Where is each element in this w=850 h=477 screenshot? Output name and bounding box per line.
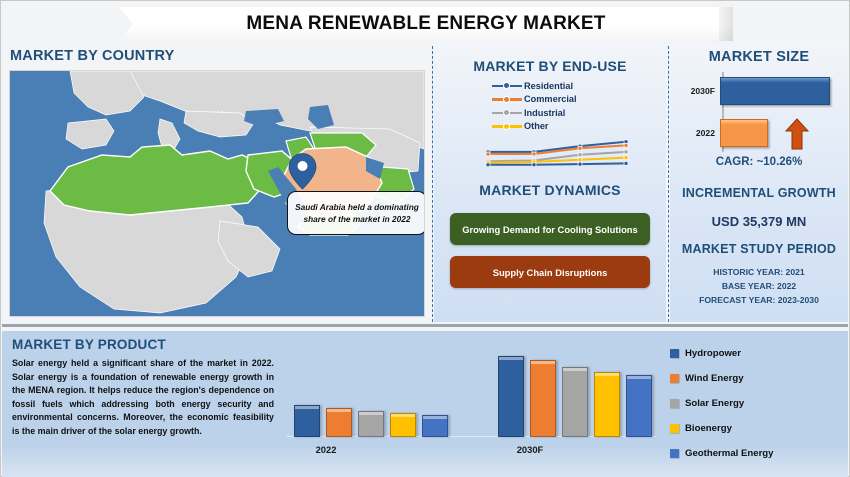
legend-label: Industrial [524, 108, 565, 118]
market-by-product-title: MARKET BY PRODUCT [12, 337, 166, 352]
legend-marker-line-icon [492, 108, 522, 118]
legend-label: Geothermal Energy [685, 448, 774, 459]
market-size-chart: 2030F 2022 [676, 72, 842, 152]
panel-divider-left [432, 46, 433, 322]
bar-solar-energy-2030F [562, 367, 588, 437]
legend-item-industrial: Industrial [492, 106, 577, 120]
bar-hydropower-2022 [294, 405, 320, 437]
legend-label: Bioenergy [685, 423, 732, 434]
legend-label: Residential [524, 81, 573, 91]
market-study-period-lines: HISTORIC YEAR: 2021 BASE YEAR: 2022 FORE… [670, 266, 848, 308]
bar-2022 [720, 119, 768, 147]
legend-item-geothermal-energy: Geothermal Energy [670, 441, 845, 466]
legend-swatch-icon [670, 349, 679, 358]
page-title: MENA RENEWABLE ENERGY MARKET [246, 13, 605, 35]
infographic-poster: MENA RENEWABLE ENERGY MARKET MARKET BY C… [0, 0, 850, 477]
legend-swatch-icon [670, 374, 679, 383]
incremental-growth-value: USD 35,379 MN [670, 214, 848, 229]
cagr-label: CAGR: ~10.26% [670, 156, 848, 168]
base-year-line: BASE YEAR: 2022 [670, 280, 848, 294]
bar-label-2030: 2030F [676, 86, 720, 96]
enduse-legend: Residential Commercial Industrial Other [492, 79, 577, 133]
market-study-period-title: MARKET STUDY PERIOD [670, 242, 848, 256]
legend-label: Solar Energy [685, 398, 744, 409]
product-legend: Hydropower Wind Energy Solar Energy Bioe… [670, 341, 845, 466]
legend-item-residential: Residential [492, 79, 577, 93]
legend-item-hydropower: Hydropower [670, 341, 845, 366]
market-by-product-paragraph: Solar energy held a significant share of… [12, 357, 274, 438]
legend-item-solar-energy: Solar Energy [670, 391, 845, 416]
axis-label-2030f: 2030F [500, 444, 560, 455]
market-by-enduse-panel: MARKET BY END-USE Residential Commercial… [434, 44, 666, 322]
saudi-arabia-callout: Saudi Arabia held a dominating share of … [287, 191, 425, 235]
incremental-growth-title: INCREMENTAL GROWTH [670, 186, 848, 200]
market-by-product-panel: MARKET BY PRODUCT Solar energy held a si… [2, 331, 848, 477]
market-by-country-title: MARKET BY COUNTRY [10, 48, 175, 64]
legend-label: Hydropower [685, 348, 741, 359]
bar-hydropower-2030F [498, 356, 524, 436]
axis-label-2022: 2022 [296, 444, 356, 455]
top-region: MARKET BY COUNTRY [2, 44, 848, 322]
forecast-year-line: FORECAST YEAR: 2023-2030 [670, 294, 848, 308]
bar-geothermal-energy-2022 [422, 415, 448, 436]
bar-label-2022: 2022 [676, 128, 720, 138]
legend-item-other: Other [492, 120, 577, 134]
bar-wind-energy-2030F [530, 360, 556, 436]
enduse-line-chart [482, 132, 632, 174]
legend-swatch-icon [670, 399, 679, 408]
panel-divider-right [668, 46, 669, 322]
bar-bioenergy-2030F [594, 372, 620, 437]
poster-title-banner: MENA RENEWABLE ENERGY MARKET [119, 7, 733, 41]
legend-marker-line-icon [492, 81, 522, 91]
product-bar-chart: 2022 2030F [286, 347, 656, 459]
bar-geothermal-energy-2030F [626, 375, 652, 436]
market-size-panel: MARKET SIZE 2030F 2022 CAGR: ~10.26% INC… [670, 44, 848, 322]
horizontal-divider [2, 324, 848, 327]
legend-marker-line-icon [492, 121, 522, 131]
legend-label: Wind Energy [685, 373, 744, 384]
market-size-title: MARKET SIZE [670, 49, 848, 65]
growth-arrow-up-icon [784, 118, 810, 150]
legend-swatch-icon [670, 424, 679, 433]
legend-label: Other [524, 121, 549, 131]
mena-map: Saudi Arabia held a dominating share of … [9, 70, 425, 317]
legend-label: Commercial [524, 94, 577, 104]
market-size-bar-row: 2030F [676, 76, 830, 106]
legend-item-bioenergy: Bioenergy [670, 416, 845, 441]
legend-item-wind-energy: Wind Energy [670, 366, 845, 391]
legend-item-commercial: Commercial [492, 93, 577, 107]
dynamic-restraint-box[interactable]: Supply Chain Disruptions [450, 256, 650, 288]
bar-2030f [720, 77, 830, 105]
bar-bioenergy-2022 [390, 413, 416, 437]
bar-solar-energy-2022 [358, 411, 384, 437]
historic-year-line: HISTORIC YEAR: 2021 [670, 266, 848, 280]
market-by-country-panel: MARKET BY COUNTRY [2, 44, 430, 322]
legend-marker-line-icon [492, 94, 522, 104]
market-size-bar-row: 2022 [676, 118, 768, 148]
bar-wind-energy-2022 [326, 408, 352, 437]
market-by-enduse-title: MARKET BY END-USE [434, 58, 666, 74]
legend-swatch-icon [670, 449, 679, 458]
market-dynamics-title: MARKET DYNAMICS [434, 182, 666, 198]
dynamic-driver-box[interactable]: Growing Demand for Cooling Solutions [450, 213, 650, 245]
